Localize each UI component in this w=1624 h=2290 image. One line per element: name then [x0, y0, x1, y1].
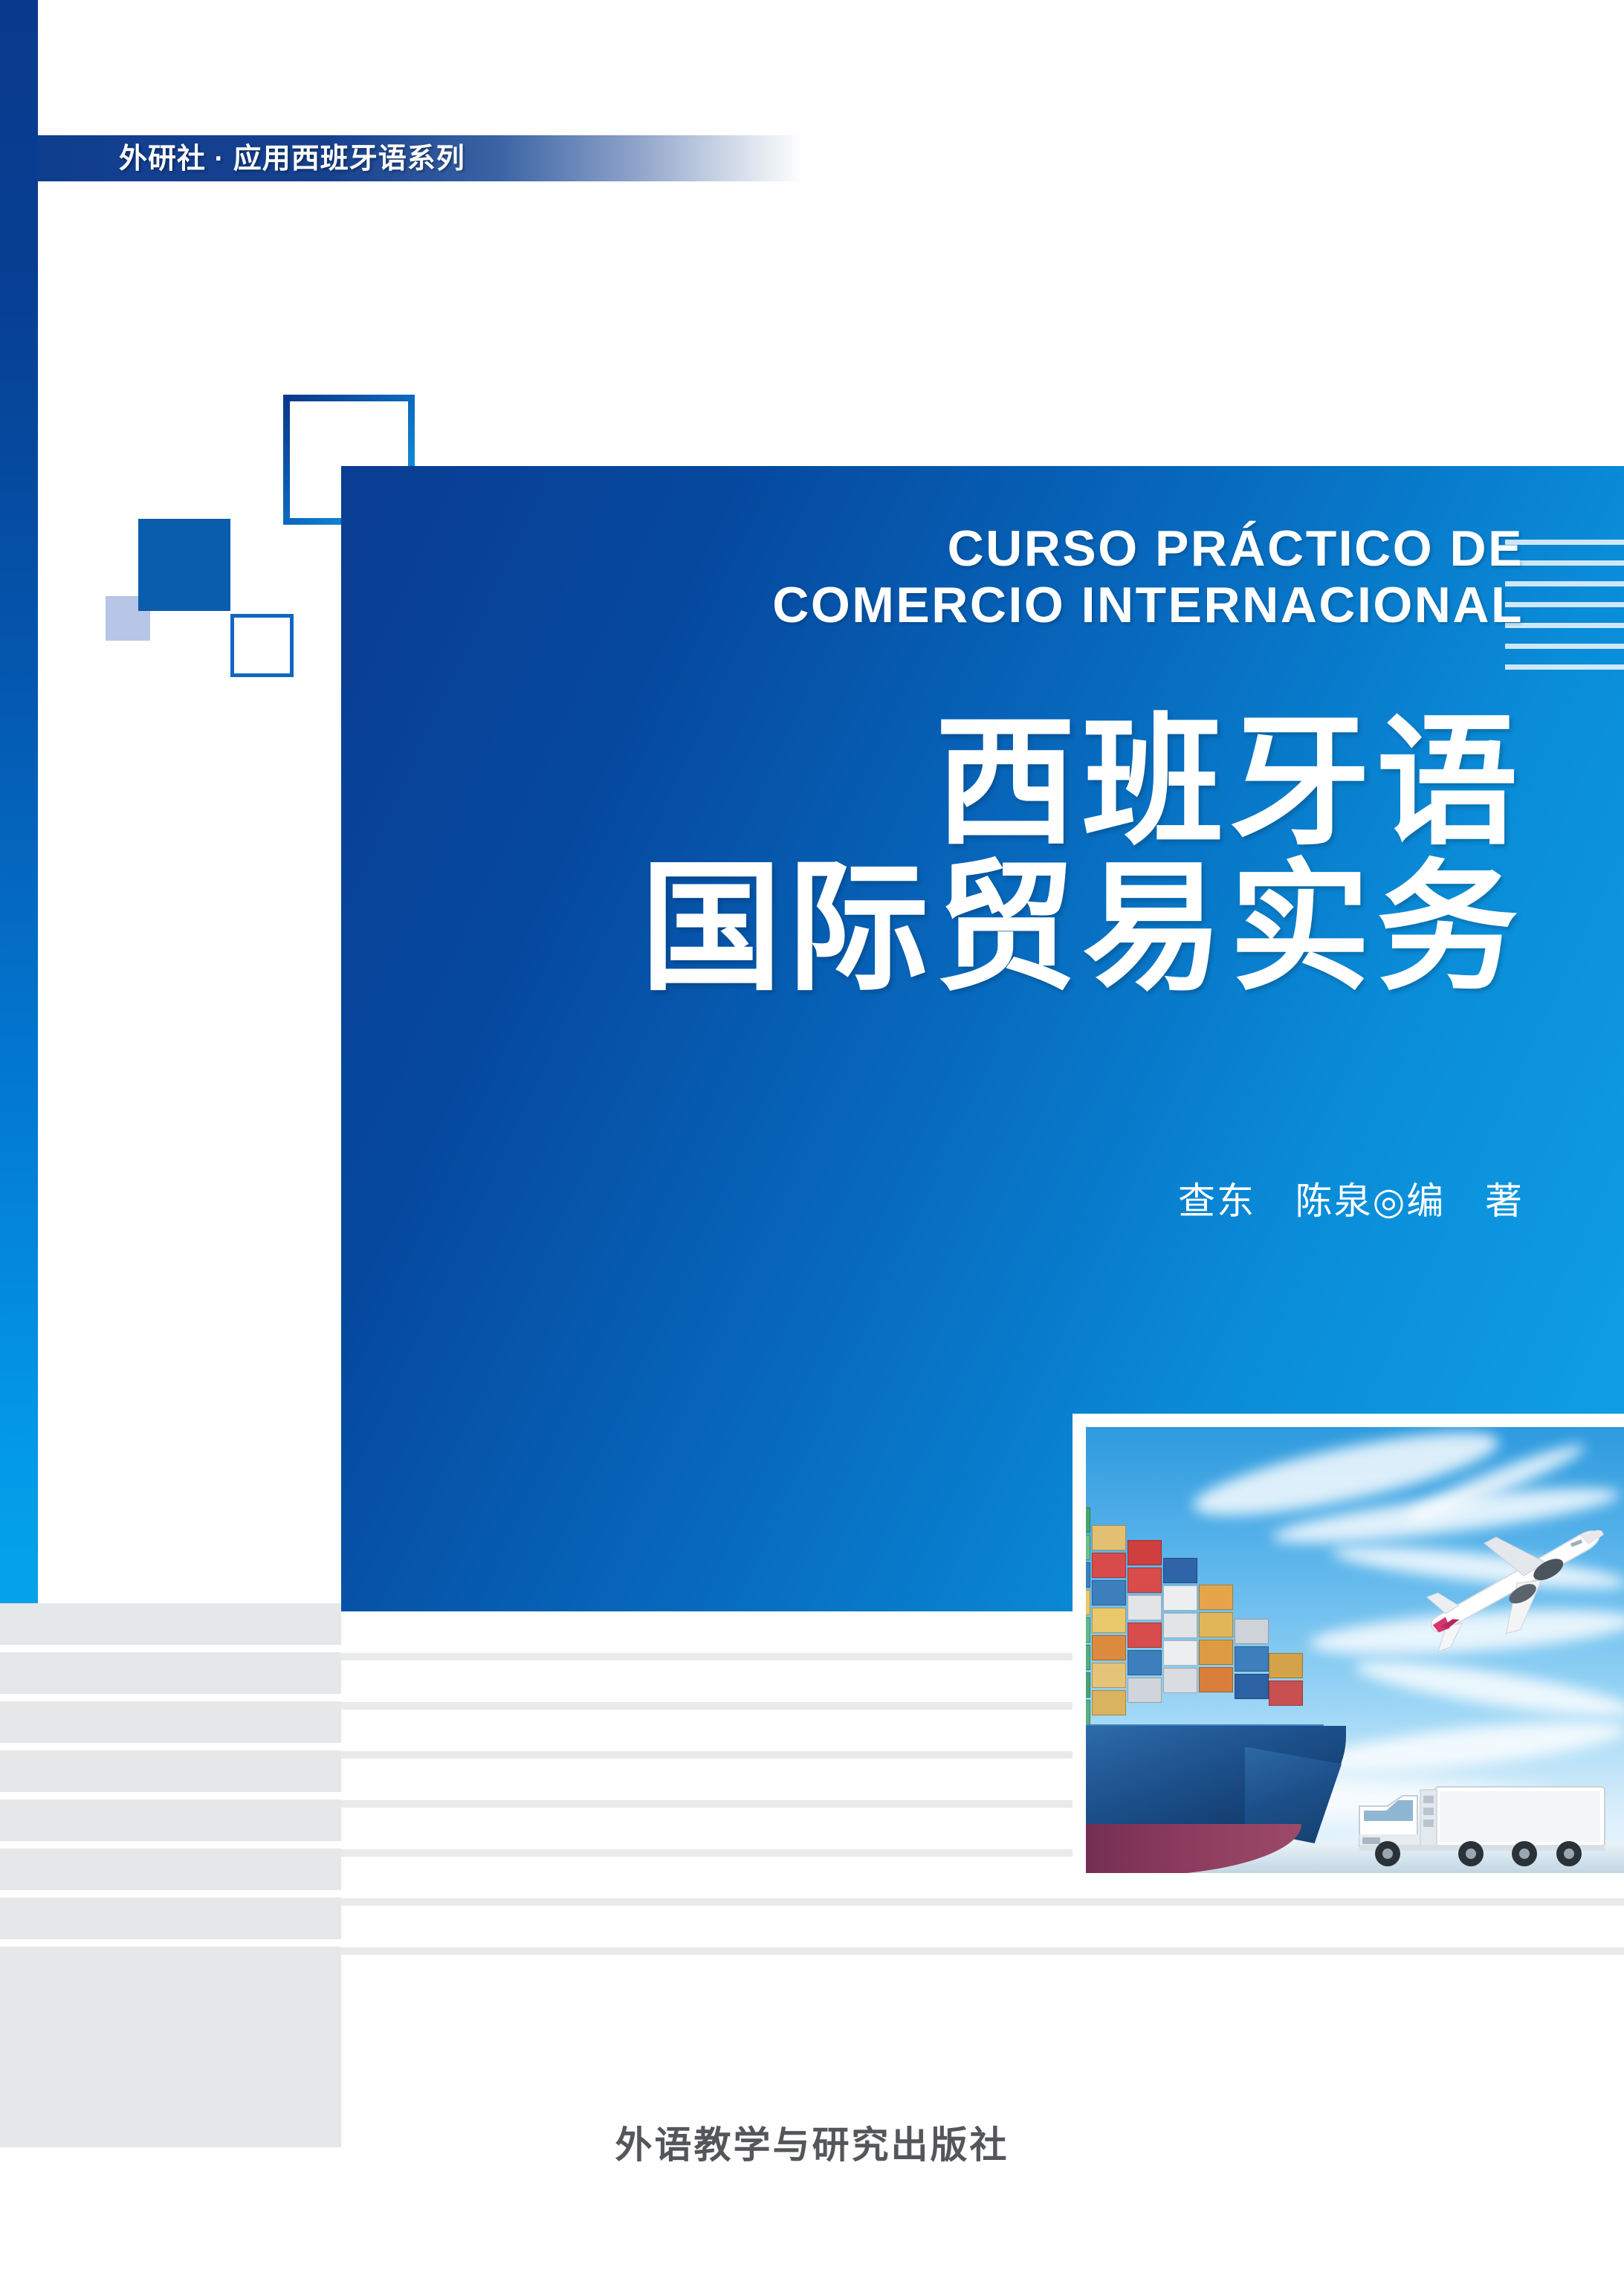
container-box — [1128, 1540, 1162, 1565]
container-box — [1128, 1568, 1162, 1593]
container-box — [1086, 1507, 1090, 1533]
container-column — [1128, 1538, 1162, 1728]
container-box — [1235, 1619, 1269, 1644]
container-box — [1199, 1585, 1233, 1610]
container-box — [1092, 1663, 1126, 1688]
spanish-title-line-1: CURSO PRÁCTICO DE — [416, 520, 1524, 577]
container-box — [1092, 1553, 1126, 1578]
stripe-band — [0, 1898, 341, 1939]
author-byline: 查东 陈泉◎编 著 — [818, 1171, 1524, 1225]
stripe-rule — [341, 1947, 1624, 1955]
container-box — [1092, 1608, 1126, 1633]
stripe-rule — [341, 1898, 1624, 1906]
container-box — [1199, 1612, 1233, 1637]
container-box — [1092, 1580, 1126, 1605]
container-column — [1086, 1505, 1090, 1728]
stripe-band — [0, 1603, 341, 1645]
stripe-band — [0, 1652, 341, 1694]
stripe-band — [0, 1799, 341, 1841]
container-stack — [1086, 1501, 1294, 1728]
container-box — [1269, 1681, 1303, 1706]
container-box — [1163, 1668, 1197, 1693]
chinese-title-line-1: 西班牙语 — [416, 710, 1524, 855]
container-box — [1163, 1585, 1197, 1611]
stripe-band — [0, 1750, 341, 1792]
publisher-name: 外语教学与研究出版社 — [0, 2115, 1624, 2169]
chinese-title: 西班牙语 国际贸易实务 — [416, 710, 1524, 1001]
container-box — [1086, 1700, 1090, 1725]
container-box — [1269, 1653, 1303, 1678]
container-box — [1092, 1525, 1126, 1550]
container-box — [1086, 1535, 1090, 1560]
container-box — [1128, 1595, 1162, 1620]
container-box — [1235, 1646, 1269, 1672]
container-column — [1199, 1582, 1233, 1728]
container-box — [1086, 1562, 1090, 1588]
container-column — [1092, 1523, 1126, 1728]
container-box — [1163, 1640, 1197, 1666]
left-accent-bar — [0, 0, 38, 1603]
container-box — [1163, 1558, 1197, 1583]
container-box — [1092, 1690, 1126, 1715]
container-box — [1128, 1650, 1162, 1675]
logistics-photo — [1086, 1427, 1624, 1873]
container-box — [1086, 1617, 1090, 1643]
container-box — [1199, 1667, 1233, 1692]
decorative-square-outline-small — [230, 614, 294, 677]
book-cover: 外研社 · 应用西班牙语系列 CURSO PRÁCTICO DE COMERCI… — [0, 0, 1624, 2290]
spanish-title: CURSO PRÁCTICO DE COMERCIO INTERNACIONAL — [416, 520, 1524, 633]
container-box — [1086, 1645, 1090, 1670]
decorative-square-filled — [138, 519, 230, 611]
cloud-shape — [1353, 1651, 1624, 1727]
airplane-icon — [1405, 1515, 1624, 1652]
container-box — [1128, 1623, 1162, 1648]
rule-line — [1505, 644, 1624, 649]
container-box — [1086, 1590, 1090, 1615]
stripe-band — [0, 1701, 341, 1743]
container-box — [1163, 1613, 1197, 1638]
stripe-band — [0, 1849, 341, 1890]
truck-icon — [1346, 1776, 1614, 1872]
cloud-shape — [1308, 1712, 1624, 1782]
spanish-title-line-2: COMERCIO INTERNACIONAL — [416, 577, 1524, 633]
container-column — [1163, 1556, 1197, 1728]
container-box — [1199, 1640, 1233, 1665]
container-box — [1092, 1635, 1126, 1660]
container-box — [1128, 1678, 1162, 1703]
rule-line — [1505, 664, 1624, 670]
chinese-title-line-2: 国际贸易实务 — [416, 855, 1524, 1001]
bottom-stripes-left — [0, 1603, 341, 2290]
container-column — [1235, 1617, 1269, 1728]
container-box — [1235, 1674, 1269, 1699]
container-box — [1086, 1672, 1090, 1698]
cover-photo-frame — [1073, 1414, 1624, 1873]
container-column — [1269, 1651, 1303, 1728]
series-banner-label: 外研社 · 应用西班牙语系列 — [119, 138, 465, 180]
